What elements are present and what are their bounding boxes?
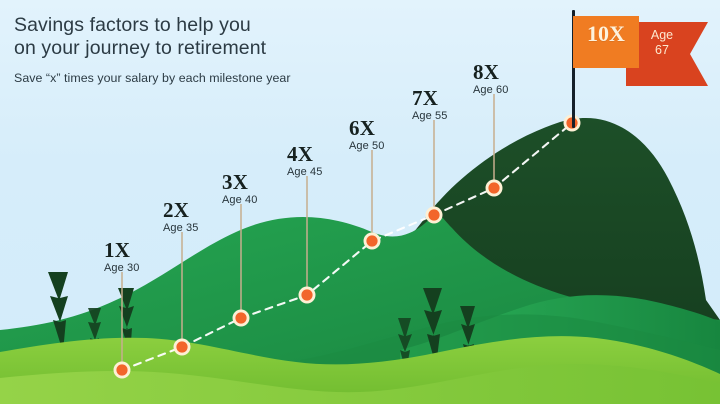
milestone-label-4x: 4XAge 45: [287, 144, 322, 179]
milestone-factor-3: 4X: [287, 144, 322, 164]
milestone-factor-5: 7X: [412, 88, 447, 108]
milestone-age-1: Age 35: [163, 222, 198, 235]
milestone-factor-2: 3X: [222, 172, 257, 192]
page-title-line-2: on your journey to retirement: [14, 37, 414, 60]
milestone-factor-6: 8X: [473, 62, 508, 82]
milestone-label-1x: 1XAge 30: [104, 240, 139, 275]
milestone-label-2x: 2XAge 35: [163, 200, 198, 235]
flag-age-label: Age 67: [638, 28, 686, 58]
flag-factor-label: 10X: [578, 23, 634, 45]
milestone-age-6: Age 60: [473, 84, 508, 97]
milestone-age-0: Age 30: [104, 262, 139, 275]
milestone-label-3x: 3XAge 40: [222, 172, 257, 207]
page-title-line-1: Savings factors to help you: [14, 14, 414, 37]
milestone-label-6x: 6XAge 50: [349, 118, 384, 153]
infographic-canvas: Savings factors to help you on your jour…: [0, 0, 720, 404]
flag-age-word: Age: [638, 28, 686, 43]
page-title: Savings factors to help you on your jour…: [14, 14, 414, 60]
page-subtitle: Save “x” times your salary by each miles…: [14, 71, 414, 85]
flag-age-value: 67: [638, 43, 686, 58]
milestone-factor-4: 6X: [349, 118, 384, 138]
retirement-flag: 10X Age 67: [566, 6, 716, 126]
milestone-label-7x: 7XAge 55: [412, 88, 447, 123]
headline-block: Savings factors to help you on your jour…: [14, 14, 414, 85]
milestone-age-4: Age 50: [349, 140, 384, 153]
milestone-age-5: Age 55: [412, 110, 447, 123]
milestone-age-3: Age 45: [287, 166, 322, 179]
milestone-label-8x: 8XAge 60: [473, 62, 508, 97]
milestone-factor-0: 1X: [104, 240, 139, 260]
milestone-factor-1: 2X: [163, 200, 198, 220]
milestone-age-2: Age 40: [222, 194, 257, 207]
